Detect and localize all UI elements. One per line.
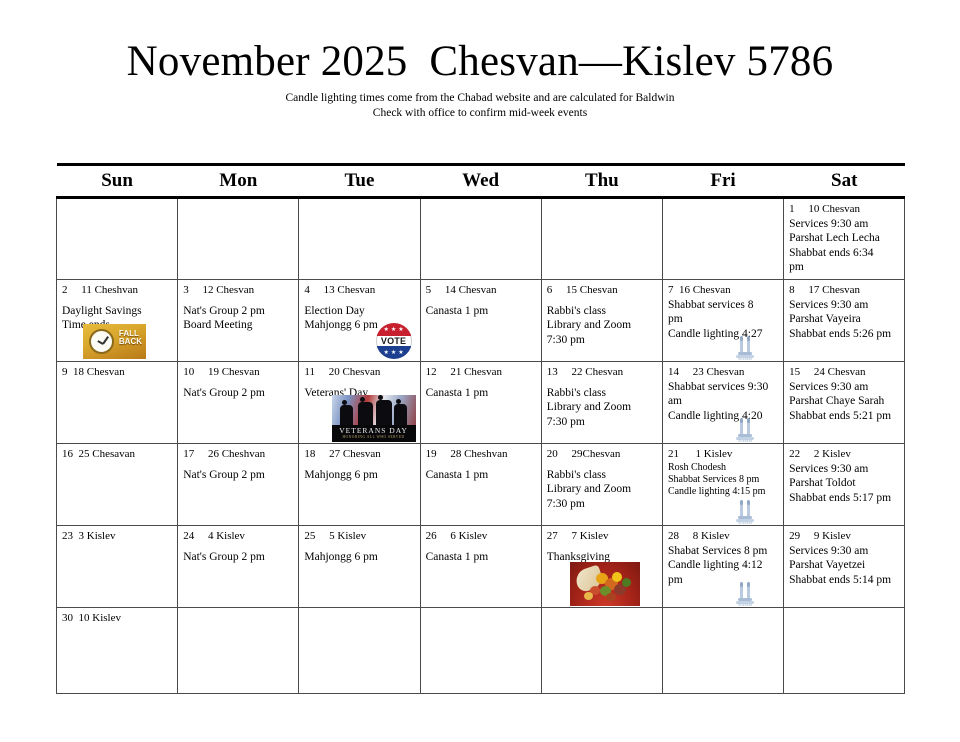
calendar-week-row: 2 11 CheshvanDaylight Savings Time endsF… bbox=[57, 280, 905, 362]
calendar-empty-cell[interactable] bbox=[541, 198, 662, 280]
vote-badge-bottom: ★★★ bbox=[376, 346, 412, 359]
day-date-label: 14 23 Chesvan bbox=[668, 366, 778, 378]
subtitle-block: Candle lighting times come from the Chab… bbox=[0, 91, 960, 121]
calendar-empty-cell[interactable] bbox=[178, 198, 299, 280]
calendar-week-row: 23 3 Kislev24 4 KislevNat's Group 2 pm25… bbox=[57, 526, 905, 608]
calendar-body: 1 10 ChesvanServices 9:30 am Parshat Lec… bbox=[57, 198, 905, 694]
day-date-label: 2 11 Cheshvan bbox=[62, 284, 172, 296]
candles-caption: Shabbat bbox=[733, 603, 757, 607]
calendar-week-row: 30 10 Kislev bbox=[57, 608, 905, 694]
day-events-text: Nat's Group 2 pm Board Meeting bbox=[183, 304, 293, 333]
fruit-shape bbox=[584, 592, 593, 600]
fall-back-label: FALLBACK bbox=[119, 330, 142, 346]
veterans-day-caption: VETERANS DAYHONORING ALL WHO SERVED bbox=[332, 425, 416, 442]
day-date-label: 30 10 Kislev bbox=[62, 612, 172, 624]
calendar-day-cell[interactable]: 16 25 Chesavan bbox=[57, 444, 178, 526]
weekday-header-mon: Mon bbox=[178, 165, 299, 198]
calendar-empty-cell[interactable] bbox=[420, 198, 541, 280]
star-icon: ★ bbox=[398, 327, 403, 333]
calendar-empty-cell[interactable] bbox=[57, 198, 178, 280]
star-icon: ★ bbox=[383, 327, 388, 333]
day-date-label: 15 24 Chesvan bbox=[789, 366, 899, 378]
calendar-day-cell[interactable]: 12 21 ChesvanCanasta 1 pm bbox=[420, 362, 541, 444]
candle-left bbox=[740, 504, 743, 516]
candle-left bbox=[740, 340, 743, 352]
calendar-empty-cell[interactable] bbox=[662, 198, 783, 280]
day-date-label: 21 1 Kislev bbox=[668, 448, 778, 460]
calendar-table: Sun Mon Tue Wed Thu Fri Sat 1 10 Chesvan… bbox=[56, 163, 905, 694]
day-events-text: Canasta 1 pm bbox=[426, 550, 536, 564]
star-icon: ★ bbox=[391, 350, 396, 356]
star-icon: ★ bbox=[391, 327, 396, 333]
day-date-label: 6 15 Chesvan bbox=[547, 284, 657, 296]
day-date-label: 26 6 Kislev bbox=[426, 530, 536, 542]
day-date-label: 28 8 Kislev bbox=[668, 530, 778, 542]
day-events-text: Services 9:30 am Parshat Vayeira Shabbat… bbox=[789, 298, 899, 341]
calendar-day-cell[interactable]: 26 6 KislevCanasta 1 pm bbox=[420, 526, 541, 608]
calendar-day-cell[interactable]: 27 7 KislevThanksgiving bbox=[541, 526, 662, 608]
day-events-text: Nat's Group 2 pm bbox=[183, 550, 293, 564]
day-date-label: 16 25 Chesavan bbox=[62, 448, 172, 460]
page-title: November 2025 Chesvan—Kislev 5786 bbox=[0, 40, 960, 84]
thanksgiving-cornucopia-image bbox=[570, 562, 640, 606]
candle-right bbox=[747, 340, 750, 352]
calendar-day-cell[interactable]: 21 1 KislevRosh Chodesh Shabbat Services… bbox=[662, 444, 783, 526]
day-date-label: 1 10 Chesvan bbox=[789, 203, 899, 215]
soldier-silhouette-icon bbox=[376, 400, 392, 425]
calendar-day-cell[interactable]: 28 8 KislevShabat Services 8 pm Candle l… bbox=[662, 526, 783, 608]
day-date-label: 29 9 Kislev bbox=[789, 530, 899, 542]
calendar-page: November 2025 Chesvan—Kislev 5786 Candle… bbox=[0, 0, 960, 742]
day-events-text: Mahjongg 6 pm bbox=[304, 468, 414, 482]
fruit-shape bbox=[622, 578, 631, 587]
day-date-label: 11 20 Chesvan bbox=[304, 366, 414, 378]
calendar-empty-cell[interactable] bbox=[541, 608, 662, 694]
clock-face-icon bbox=[89, 329, 114, 354]
day-date-label: 12 21 Chesvan bbox=[426, 366, 536, 378]
candle-left bbox=[740, 586, 743, 598]
day-date-label: 7 16 Chesvan bbox=[668, 284, 778, 296]
star-icon: ★ bbox=[383, 350, 388, 356]
calendar-header: November 2025 Chesvan—Kislev 5786 Candle… bbox=[0, 0, 960, 121]
calendar-empty-cell[interactable] bbox=[178, 608, 299, 694]
day-date-label: 9 18 Chesvan bbox=[62, 366, 172, 378]
day-date-label: 10 19 Chesvan bbox=[183, 366, 293, 378]
day-events-text: Rabbi's class Library and Zoom 7:30 pm bbox=[547, 468, 657, 511]
calendar-empty-cell[interactable] bbox=[299, 608, 420, 694]
weekday-header-thu: Thu bbox=[541, 165, 662, 198]
day-date-label: 18 27 Chesvan bbox=[304, 448, 414, 460]
day-date-label: 24 4 Kislev bbox=[183, 530, 293, 542]
calendar-day-cell[interactable]: 3 12 ChesvanNat's Group 2 pm Board Meeti… bbox=[178, 280, 299, 362]
weekday-header-fri: Fri bbox=[662, 165, 783, 198]
veterans-day-image: VETERANS DAYHONORING ALL WHO SERVED bbox=[332, 395, 416, 442]
day-events-text: Rabbi's class Library and Zoom 7:30 pm bbox=[547, 386, 657, 429]
calendar-day-cell[interactable]: 9 18 Chesvan bbox=[57, 362, 178, 444]
calendar-day-cell[interactable]: 7 16 ChesvanShabbat services 8 pm Candle… bbox=[662, 280, 783, 362]
calendar-day-cell[interactable]: 5 14 ChesvanCanasta 1 pm bbox=[420, 280, 541, 362]
calendar-day-cell[interactable]: 24 4 KislevNat's Group 2 pm bbox=[178, 526, 299, 608]
calendar-day-cell[interactable]: 23 3 Kislev bbox=[57, 526, 178, 608]
calendar-empty-cell[interactable] bbox=[784, 608, 905, 694]
vote-badge-image: ★★★VOTE★★★ bbox=[376, 323, 412, 359]
calendar-day-cell[interactable]: 11 20 ChesvanVeterans' DayVETERANS DAYHO… bbox=[299, 362, 420, 444]
soldier-silhouette-icon bbox=[394, 404, 407, 425]
calendar-day-cell[interactable]: 18 27 ChesvanMahjongg 6 pm bbox=[299, 444, 420, 526]
day-events-text: Mahjongg 6 pm bbox=[304, 550, 414, 564]
candle-right bbox=[747, 504, 750, 516]
day-date-label: 13 22 Chesvan bbox=[547, 366, 657, 378]
fruit-shape bbox=[612, 572, 622, 582]
day-events-text: Services 9:30 am Parshat Toldot Shabbat … bbox=[789, 462, 899, 505]
day-date-label: 23 3 Kislev bbox=[62, 530, 172, 542]
day-events-text: Shabbat services 8 pm Candle lighting 4:… bbox=[668, 298, 778, 341]
day-events-text: Nat's Group 2 pm bbox=[183, 468, 293, 482]
weekday-header-sat: Sat bbox=[784, 165, 905, 198]
calendar-day-cell[interactable]: 13 22 ChesvanRabbi's class Library and Z… bbox=[541, 362, 662, 444]
day-date-label: 4 13 Chesvan bbox=[304, 284, 414, 296]
calendar-day-cell[interactable]: 20 29ChesvanRabbi's class Library and Zo… bbox=[541, 444, 662, 526]
calendar-day-cell[interactable]: 29 9 KislevServices 9:30 am Parshat Vaye… bbox=[784, 526, 905, 608]
fruit-shape bbox=[606, 593, 616, 601]
calendar-day-cell[interactable]: 22 2 KislevServices 9:30 am Parshat Told… bbox=[784, 444, 905, 526]
day-events-text: Services 9:30 am Parshat Lech Lecha Shab… bbox=[789, 217, 899, 275]
day-events-text: Canasta 1 pm bbox=[426, 304, 536, 318]
calendar-week-row: 1 10 ChesvanServices 9:30 am Parshat Lec… bbox=[57, 198, 905, 280]
candle-right bbox=[747, 422, 750, 434]
shabbat-candles-icon: Shabbat bbox=[733, 414, 757, 440]
day-events-text: Rosh Chodesh Shabbat Services 8 pm Candl… bbox=[668, 462, 778, 499]
day-events-text: Rabbi's class Library and Zoom 7:30 pm bbox=[547, 304, 657, 347]
candle-right bbox=[747, 586, 750, 598]
calendar-empty-cell[interactable] bbox=[420, 608, 541, 694]
candle-left bbox=[740, 422, 743, 434]
day-date-label: 5 14 Chesvan bbox=[426, 284, 536, 296]
calendar-grid-wrapper: Sun Mon Tue Wed Thu Fri Sat 1 10 Chesvan… bbox=[56, 163, 904, 694]
soldier-silhouette-icon bbox=[358, 402, 373, 425]
calendar-day-cell[interactable]: 19 28 CheshvanCanasta 1 pm bbox=[420, 444, 541, 526]
calendar-week-row: 16 25 Chesavan17 26 CheshvanNat's Group … bbox=[57, 444, 905, 526]
day-events-text: Canasta 1 pm bbox=[426, 386, 536, 400]
day-date-label: 19 28 Cheshvan bbox=[426, 448, 536, 460]
calendar-day-cell[interactable]: 15 24 ChesvanServices 9:30 am Parshat Ch… bbox=[784, 362, 905, 444]
shabbat-candles-icon: Shabbat bbox=[733, 332, 757, 358]
calendar-day-cell[interactable]: 6 15 ChesvanRabbi's class Library and Zo… bbox=[541, 280, 662, 362]
calendar-empty-cell[interactable] bbox=[662, 608, 783, 694]
fall-back-clock-image: FALLBACK bbox=[83, 324, 146, 359]
weekday-header-row: Sun Mon Tue Wed Thu Fri Sat bbox=[57, 165, 905, 198]
calendar-day-cell[interactable]: 4 13 ChesvanElection Day Mahjongg 6 pm★★… bbox=[299, 280, 420, 362]
shabbat-candles-icon: Shabbat bbox=[733, 496, 757, 522]
calendar-empty-cell[interactable] bbox=[299, 198, 420, 280]
day-events-text: Services 9:30 am Parshat Vayetzei Shabba… bbox=[789, 544, 899, 587]
day-events-text: Canasta 1 pm bbox=[426, 468, 536, 482]
subtitle-line-2: Check with office to confirm mid-week ev… bbox=[0, 106, 960, 121]
soldier-silhouette-icon bbox=[340, 405, 353, 425]
day-date-label: 8 17 Chesvan bbox=[789, 284, 899, 296]
veterans-day-title: VETERANS DAY bbox=[339, 427, 408, 435]
candles-caption: Shabbat bbox=[733, 357, 757, 361]
star-icon: ★ bbox=[398, 350, 403, 356]
day-events-text: Shabat Services 8 pm Candle lighting 4:1… bbox=[668, 544, 778, 587]
candles-caption: Shabbat bbox=[733, 521, 757, 525]
calendar-day-cell[interactable]: 8 17 ChesvanServices 9:30 am Parshat Vay… bbox=[784, 280, 905, 362]
calendar-day-cell[interactable]: 2 11 CheshvanDaylight Savings Time endsF… bbox=[57, 280, 178, 362]
weekday-header-sun: Sun bbox=[57, 165, 178, 198]
weekday-header-wed: Wed bbox=[420, 165, 541, 198]
day-date-label: 3 12 Chesvan bbox=[183, 284, 293, 296]
calendar-day-cell[interactable]: 1 10 ChesvanServices 9:30 am Parshat Lec… bbox=[784, 198, 905, 280]
calendar-day-cell[interactable]: 10 19 ChesvanNat's Group 2 pm bbox=[178, 362, 299, 444]
shabbat-candles-icon: Shabbat bbox=[733, 578, 757, 604]
veterans-day-tagline: HONORING ALL WHO SERVED bbox=[342, 436, 404, 440]
calendar-day-cell[interactable]: 14 23 ChesvanShabbat services 9:30 am Ca… bbox=[662, 362, 783, 444]
day-date-label: 22 2 Kislev bbox=[789, 448, 899, 460]
weekday-header-tue: Tue bbox=[299, 165, 420, 198]
calendar-day-cell[interactable]: 30 10 Kislev bbox=[57, 608, 178, 694]
day-date-label: 25 5 Kislev bbox=[304, 530, 414, 542]
day-events-text: Shabbat services 9:30 am Candle lighting… bbox=[668, 380, 778, 423]
day-events-text: Nat's Group 2 pm bbox=[183, 386, 293, 400]
calendar-day-cell[interactable]: 17 26 CheshvanNat's Group 2 pm bbox=[178, 444, 299, 526]
day-events-text: Services 9:30 am Parshat Chaye Sarah Sha… bbox=[789, 380, 899, 423]
calendar-week-row: 9 18 Chesvan10 19 ChesvanNat's Group 2 p… bbox=[57, 362, 905, 444]
calendar-day-cell[interactable]: 25 5 KislevMahjongg 6 pm bbox=[299, 526, 420, 608]
day-date-label: 27 7 Kislev bbox=[547, 530, 657, 542]
subtitle-line-1: Candle lighting times come from the Chab… bbox=[0, 91, 960, 106]
candles-caption: Shabbat bbox=[733, 439, 757, 443]
day-date-label: 20 29Chesvan bbox=[547, 448, 657, 460]
day-date-label: 17 26 Cheshvan bbox=[183, 448, 293, 460]
